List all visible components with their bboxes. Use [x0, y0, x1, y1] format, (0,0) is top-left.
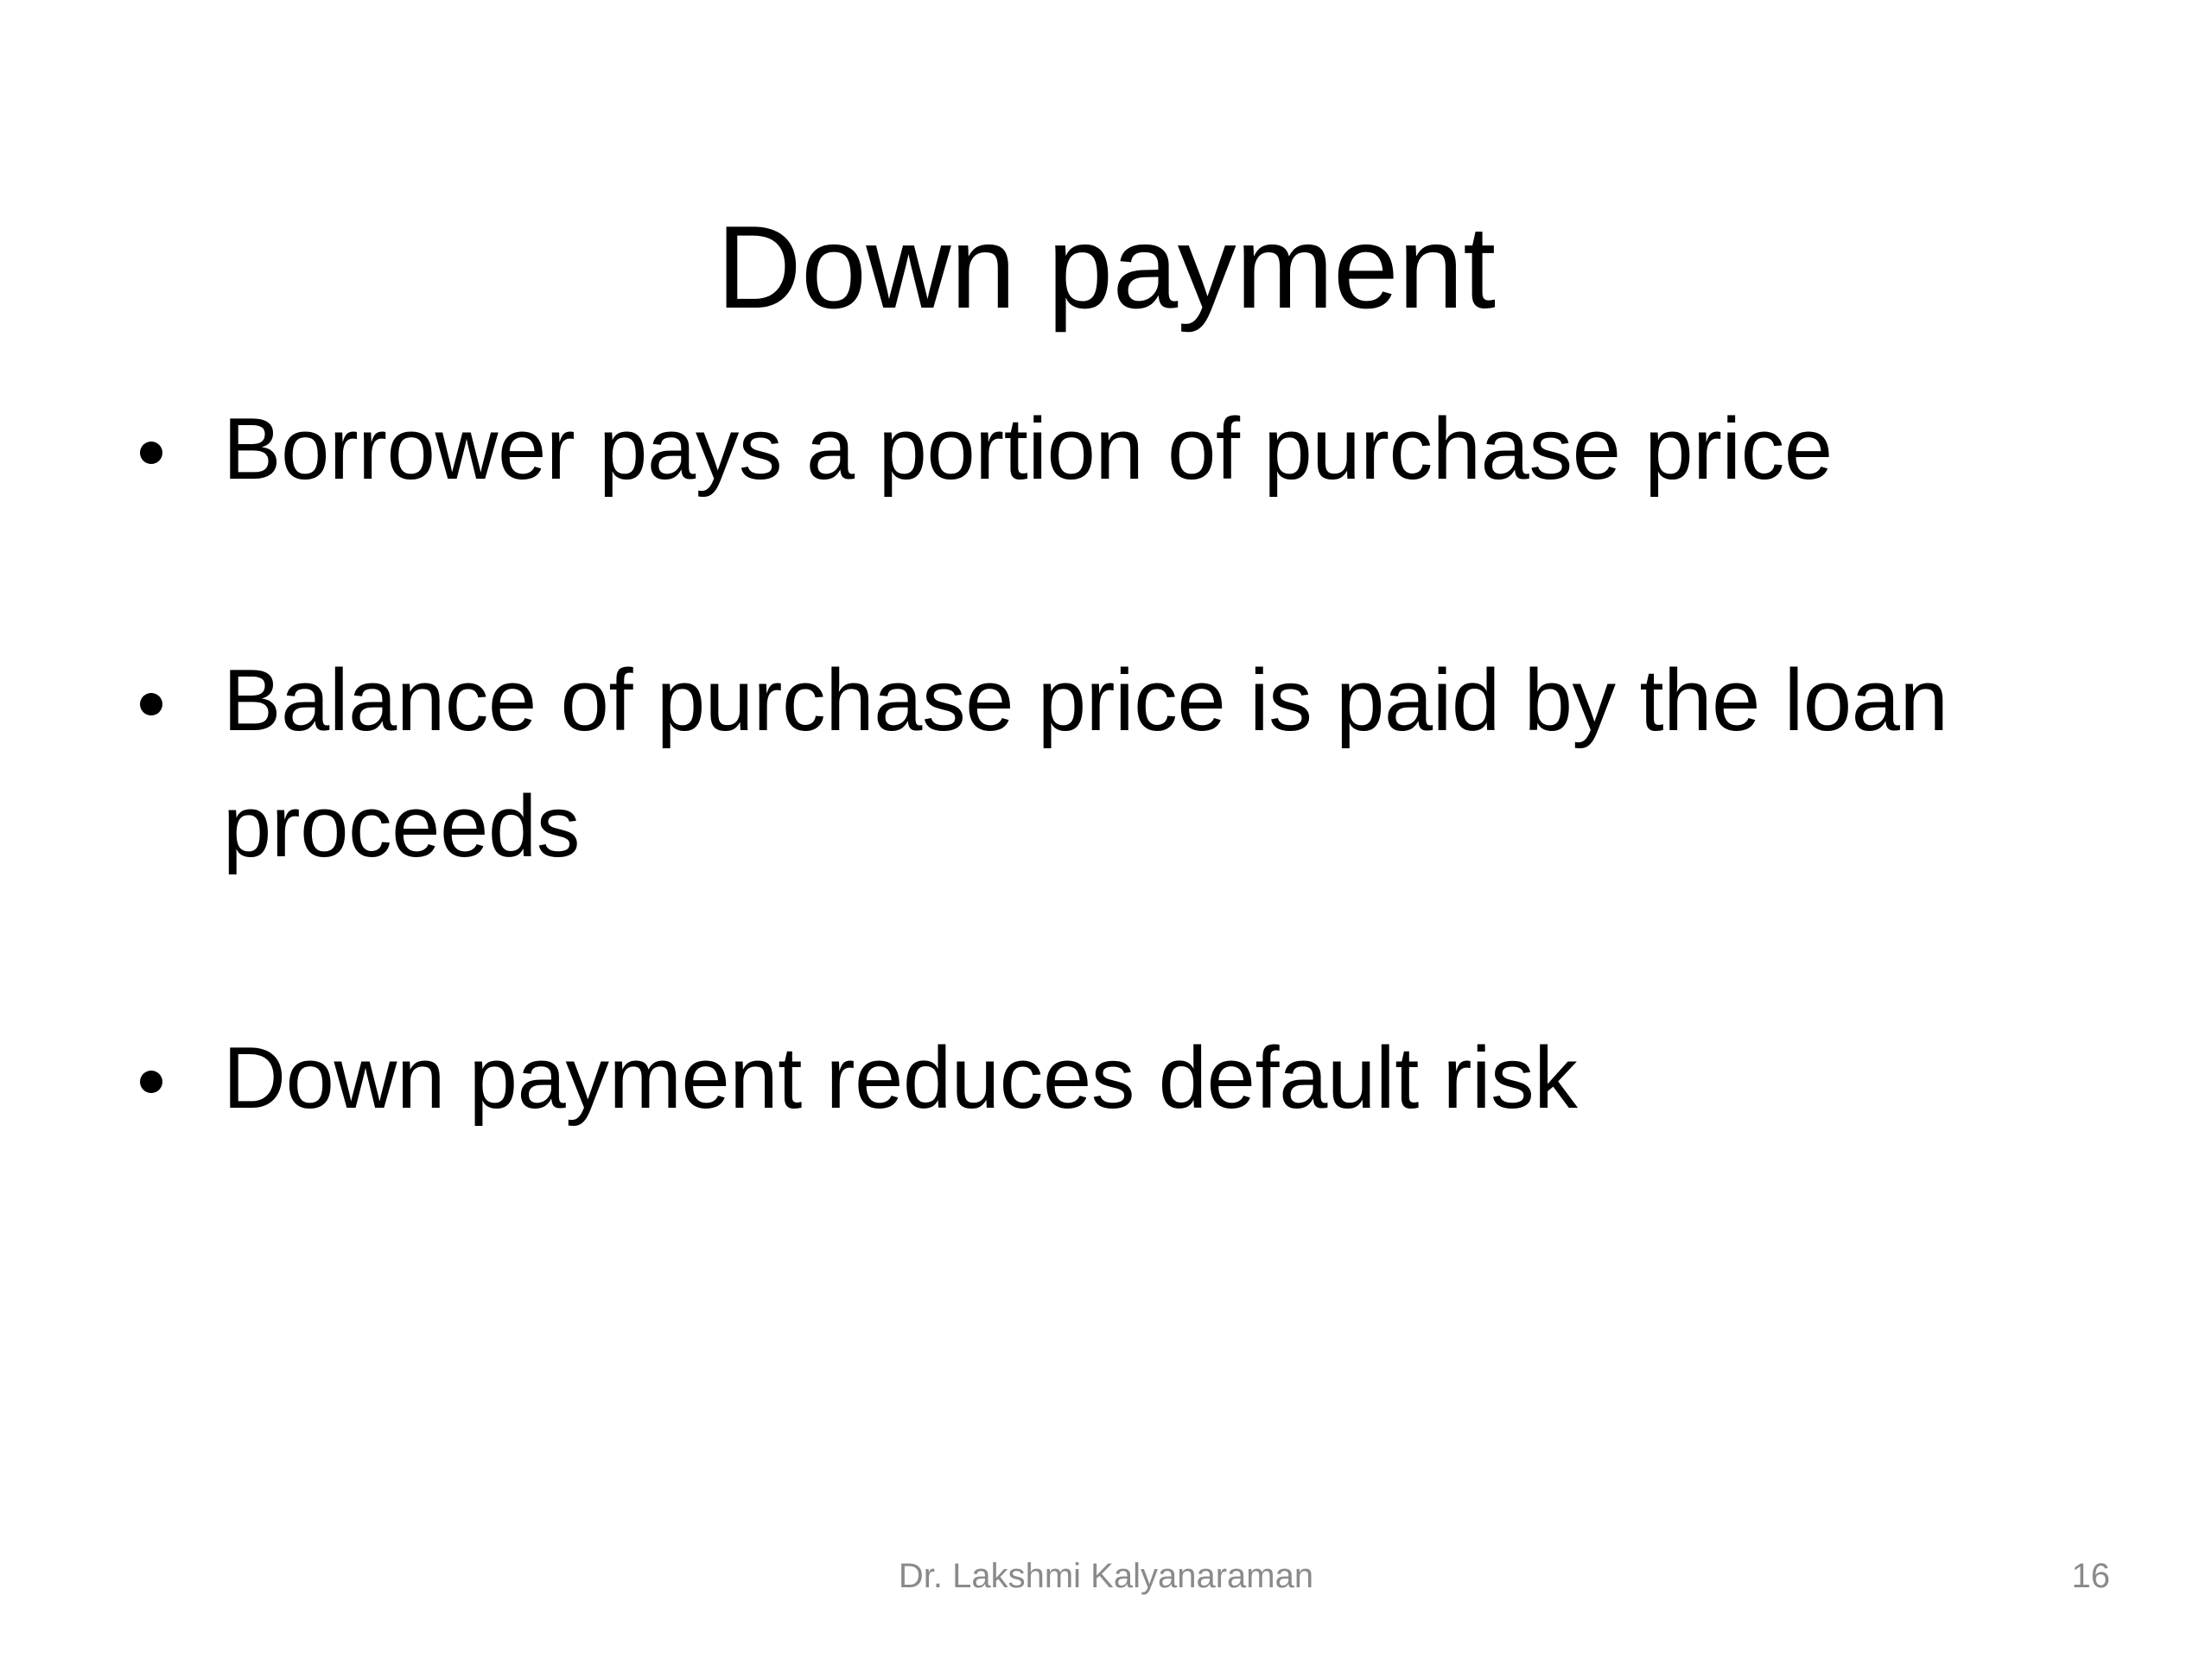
footer-author-label: Dr. Lakshmi Kalyanaraman [0, 1555, 2212, 1597]
slide-canvas: Down payment Borrower pays a portion of … [0, 0, 2212, 1659]
list-item-label: Down payment reduces default risk [223, 1016, 2091, 1141]
slide-footer: Dr. Lakshmi Kalyanaraman 16 [0, 1555, 2212, 1607]
bullet-list: Borrower pays a portion of purchase pric… [130, 387, 2091, 1142]
list-item: Down payment reduces default risk [130, 1016, 2091, 1141]
list-item-label: Borrower pays a portion of purchase pric… [223, 387, 2091, 512]
page-number: 16 [2072, 1555, 2111, 1597]
bullet-dot-icon [140, 442, 162, 464]
list-item: Borrower pays a portion of purchase pric… [130, 387, 2091, 512]
list-item: Balance of purchase price is paid by the… [130, 639, 2091, 890]
bullet-dot-icon [140, 1071, 162, 1093]
list-item-label: Balance of purchase price is paid by the… [223, 639, 2091, 890]
bullet-dot-icon [140, 693, 162, 715]
page-title: Down payment [0, 208, 2212, 326]
